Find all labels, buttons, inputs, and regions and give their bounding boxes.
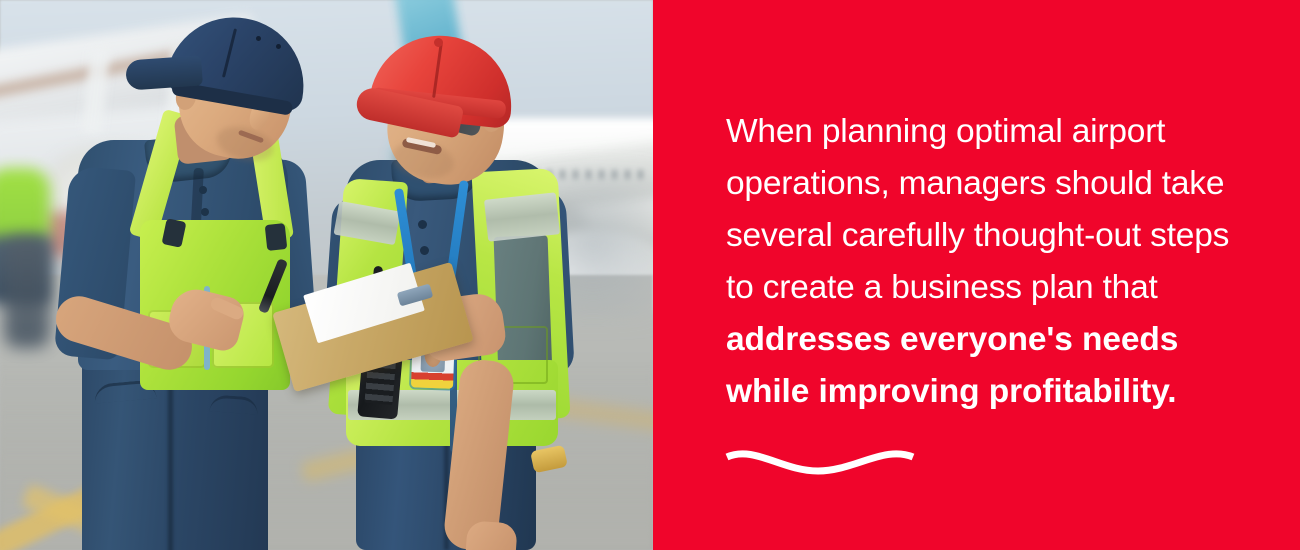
callout-paragraph: When planning optimal airport operations… bbox=[726, 106, 1244, 418]
callout-regular-text: When planning optimal airport operations… bbox=[726, 113, 1238, 306]
polo-button bbox=[201, 208, 209, 216]
cap-button bbox=[434, 38, 443, 47]
polo-button bbox=[420, 246, 429, 255]
callout-text-panel: When planning optimal airport operations… bbox=[653, 0, 1300, 550]
callout-bold-text: addresses everyone's needs while improvi… bbox=[726, 321, 1188, 410]
cap-eyelet bbox=[276, 44, 281, 49]
hero-photo bbox=[0, 0, 653, 550]
wavy-underline-flourish bbox=[724, 447, 916, 479]
overall-buckle bbox=[265, 223, 288, 251]
callout-banner: When planning optimal airport operations… bbox=[0, 0, 1300, 550]
worker-left bbox=[60, 10, 390, 550]
vest-reflective-stripe bbox=[484, 192, 560, 241]
polo-button bbox=[199, 186, 207, 194]
polo-button bbox=[418, 220, 427, 229]
cap-brim bbox=[125, 55, 203, 90]
background-worker bbox=[4, 236, 50, 348]
cap-eyelet bbox=[256, 36, 261, 41]
